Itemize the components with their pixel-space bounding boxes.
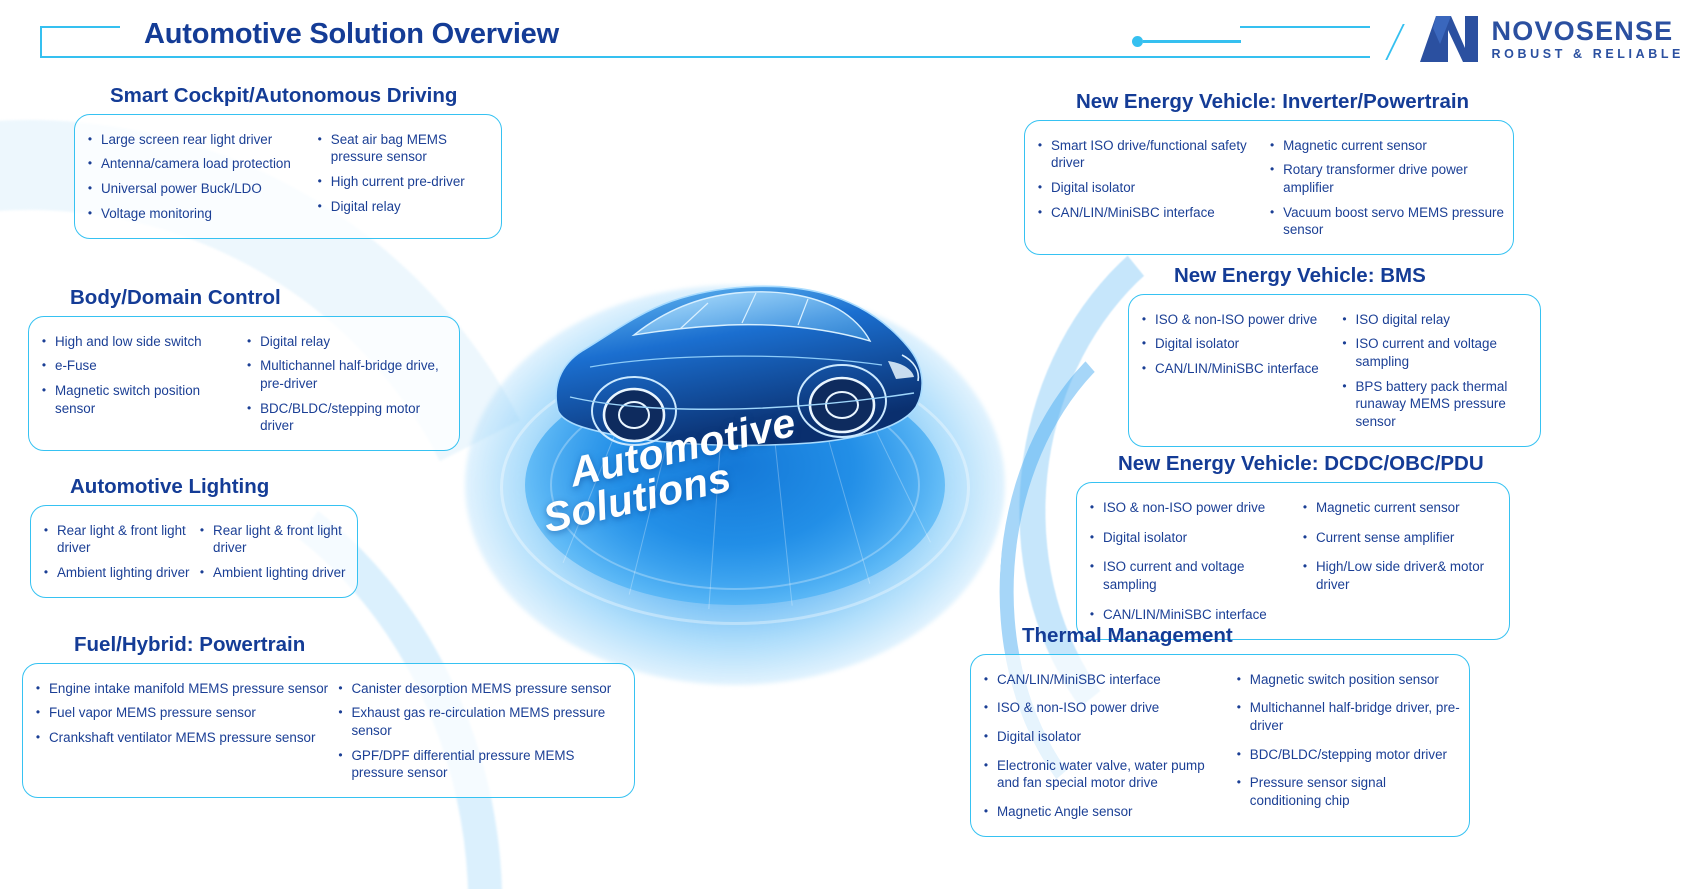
panel-column-right: •Digital relay •Multichannel half-bridge…: [238, 329, 451, 438]
list-item-label: ISO & non-ISO power drive: [1155, 311, 1333, 329]
list-item[interactable]: •High and low side switch: [33, 329, 238, 354]
bullet-icon: •: [1294, 529, 1316, 545]
list-item-label: CAN/LIN/MiniSBC interface: [1051, 204, 1261, 222]
list-item-label: Magnetic switch position sensor: [1250, 671, 1461, 689]
list-item-label: Magnetic current sensor: [1283, 137, 1505, 155]
bullet-icon: •: [1294, 499, 1316, 515]
bullet-icon: •: [27, 729, 49, 745]
list-item-label: CAN/LIN/MiniSBC interface: [997, 671, 1228, 689]
bullet-icon: •: [975, 728, 997, 744]
list-item[interactable]: •Smart ISO drive/functional safety drive…: [1029, 133, 1261, 175]
bullet-icon: •: [1228, 746, 1250, 762]
list-item-label: Multichannel half-bridge drive, pre-driv…: [260, 357, 451, 392]
bullet-icon: •: [79, 155, 101, 171]
list-item[interactable]: •Ambient lighting driver: [35, 560, 191, 585]
list-item-label: Digital relay: [260, 333, 451, 351]
list-item[interactable]: •Digital relay: [309, 194, 493, 219]
list-item[interactable]: •Digital isolator: [975, 722, 1228, 751]
panel-column-left: •Smart ISO drive/functional safety drive…: [1029, 133, 1261, 242]
list-item[interactable]: •BDC/BLDC/stepping motor driver: [238, 396, 451, 438]
list-item[interactable]: •High/Low side driver& motor driver: [1294, 552, 1501, 599]
list-item-label: Pressure sensor signal conditioning chip: [1250, 774, 1461, 809]
panel-column-left: •Rear light & front light driver •Ambien…: [35, 518, 191, 585]
bullet-icon: •: [329, 704, 351, 720]
section-fuel-hybrid-powertrain: Fuel/Hybrid: Powertrain •Engine intake m…: [22, 633, 635, 798]
bullet-icon: •: [1333, 378, 1355, 394]
list-item[interactable]: •Digital isolator: [1029, 175, 1261, 200]
panel-fuel-hybrid-powertrain: •Engine intake manifold MEMS pressure se…: [22, 663, 635, 798]
list-item[interactable]: •Voltage monitoring: [79, 201, 309, 226]
list-item[interactable]: •Canister desorption MEMS pressure senso…: [329, 676, 626, 701]
list-item-label: Ambient lighting driver: [213, 564, 349, 582]
section-title-nev-inverter-powertrain: New Energy Vehicle: Inverter/Powertrain: [1024, 90, 1514, 114]
list-item-label: Seat air bag MEMS pressure sensor: [331, 131, 493, 166]
bullet-icon: •: [238, 357, 260, 373]
bullet-icon: •: [35, 522, 57, 538]
bullet-icon: •: [1029, 204, 1051, 220]
bullet-icon: •: [27, 680, 49, 696]
panel-nev-inverter-powertrain: •Smart ISO drive/functional safety drive…: [1024, 120, 1514, 255]
section-title-smart-cockpit: Smart Cockpit/Autonomous Driving: [74, 84, 502, 108]
list-item[interactable]: •ISO & non-ISO power drive: [1081, 493, 1294, 523]
list-item[interactable]: •Electronic water valve, water pump and …: [975, 751, 1228, 797]
brand-logo: NOVOSENSE ROBUST & RELIABLE: [1418, 14, 1684, 64]
bullet-icon: •: [79, 180, 101, 196]
bullet-icon: •: [238, 400, 260, 416]
list-item[interactable]: •Digital isolator: [1133, 332, 1333, 357]
panel-column-left: •ISO & non-ISO power drive •Digital isol…: [1133, 307, 1333, 434]
title-accent-line: [1143, 40, 1241, 43]
list-item[interactable]: •ISO current and voltage sampling: [1333, 332, 1532, 374]
list-item-label: BDC/BLDC/stepping motor driver: [1250, 746, 1461, 764]
logo-tagline: ROBUST & RELIABLE: [1492, 48, 1684, 61]
list-item-label: Rotary transformer drive power amplifier: [1283, 161, 1505, 196]
list-item-label: Magnetic switch position sensor: [55, 382, 238, 417]
bullet-icon: •: [1228, 671, 1250, 687]
section-title-nev-dcdc-obc-pdu: New Energy Vehicle: DCDC/OBC/PDU: [1076, 452, 1510, 476]
list-item-label: CAN/LIN/MiniSBC interface: [1155, 360, 1333, 378]
list-item-label: Electronic water valve, water pump and f…: [997, 757, 1228, 792]
list-item[interactable]: •CAN/LIN/MiniSBC interface: [975, 665, 1228, 694]
list-item[interactable]: •Ambient lighting driver: [191, 560, 349, 585]
bullet-icon: •: [975, 671, 997, 687]
list-item-label: ISO digital relay: [1355, 311, 1532, 329]
logo-name: NOVOSENSE: [1492, 18, 1684, 45]
list-item[interactable]: •Large screen rear light driver: [79, 127, 309, 152]
bullet-icon: •: [27, 704, 49, 720]
panel-column-left: •Engine intake manifold MEMS pressure se…: [27, 676, 329, 785]
list-item[interactable]: •e-Fuse: [33, 354, 238, 379]
list-item[interactable]: •BDC/BLDC/stepping motor driver: [1228, 740, 1461, 769]
panel-column-left: •ISO & non-ISO power drive •Digital isol…: [1081, 493, 1294, 629]
bullet-icon: •: [1133, 335, 1155, 351]
list-item-label: Digital isolator: [1051, 179, 1261, 197]
panel-column-left: •High and low side switch •e-Fuse •Magne…: [33, 329, 238, 438]
list-item[interactable]: •Crankshaft ventilator MEMS pressure sen…: [27, 725, 329, 750]
list-item-label: Exhaust gas re-circulation MEMS pressure…: [351, 704, 626, 739]
list-item-label: Fuel vapor MEMS pressure sensor: [49, 704, 329, 722]
bullet-icon: •: [1228, 774, 1250, 790]
panel-column-right: •Magnetic current sensor •Current sense …: [1294, 493, 1501, 629]
bullet-icon: •: [1029, 179, 1051, 195]
bullet-icon: •: [329, 680, 351, 696]
list-item[interactable]: •Multichannel half-bridge driver, pre-dr…: [1228, 694, 1461, 740]
bullet-icon: •: [191, 522, 213, 538]
list-item[interactable]: •Current sense amplifier: [1294, 523, 1501, 553]
list-item-label: GPF/DPF differential pressure MEMS press…: [351, 747, 626, 782]
list-item[interactable]: •High current pre-driver: [309, 169, 493, 194]
bullet-icon: •: [79, 131, 101, 147]
list-item-label: Current sense amplifier: [1316, 529, 1501, 547]
novosense-mark-icon: [1418, 14, 1480, 64]
section-thermal-management: Thermal Management •CAN/LIN/MiniSBC inte…: [970, 624, 1470, 837]
list-item-label: High/Low side driver& motor driver: [1316, 558, 1501, 593]
panel-column-right: •Rear light & front light driver •Ambien…: [191, 518, 349, 585]
bullet-icon: •: [238, 333, 260, 349]
bullet-icon: •: [1081, 606, 1103, 622]
panel-column-right: •Magnetic switch position sensor •Multic…: [1228, 665, 1461, 826]
bullet-icon: •: [1133, 311, 1155, 327]
list-item[interactable]: •Magnetic switch position sensor: [33, 378, 238, 420]
list-item-label: Digital isolator: [1103, 529, 1294, 547]
bullet-icon: •: [309, 131, 331, 147]
list-item-label: BPS battery pack thermal runaway MEMS pr…: [1355, 378, 1532, 431]
list-item-label: High current pre-driver: [331, 173, 493, 191]
list-item[interactable]: •Magnetic current sensor: [1294, 493, 1501, 523]
section-smart-cockpit: Smart Cockpit/Autonomous Driving •Large …: [74, 84, 502, 239]
list-item[interactable]: •Magnetic current sensor: [1261, 133, 1505, 158]
list-item[interactable]: •Vacuum boost servo MEMS pressure sensor: [1261, 200, 1505, 242]
panel-column-left: •Large screen rear light driver •Antenna…: [79, 127, 309, 226]
list-item-label: ISO & non-ISO power drive: [1103, 499, 1294, 517]
list-item[interactable]: •ISO current and voltage sampling: [1081, 552, 1294, 599]
list-item-label: Rear light & front light driver: [213, 522, 349, 557]
section-title-automotive-lighting: Automotive Lighting: [30, 475, 358, 499]
list-item[interactable]: •ISO & non-ISO power drive: [1133, 307, 1333, 332]
list-item[interactable]: •Rear light & front light driver: [191, 518, 349, 560]
list-item[interactable]: •CAN/LIN/MiniSBC interface: [1029, 200, 1261, 225]
list-item-label: Universal power Buck/LDO: [101, 180, 309, 198]
panel-thermal-management: •CAN/LIN/MiniSBC interface •ISO & non-IS…: [970, 654, 1470, 837]
bullet-icon: •: [975, 757, 997, 773]
list-item-label: Canister desorption MEMS pressure sensor: [351, 680, 626, 698]
bullet-icon: •: [1333, 335, 1355, 351]
section-nev-dcdc-obc-pdu: New Energy Vehicle: DCDC/OBC/PDU •ISO & …: [1076, 452, 1510, 640]
list-item-label: Digital isolator: [1155, 335, 1333, 353]
bullet-icon: •: [1294, 558, 1316, 574]
bullet-icon: •: [79, 205, 101, 221]
list-item-label: Rear light & front light driver: [57, 522, 191, 557]
list-item-label: Smart ISO drive/functional safety driver: [1051, 137, 1261, 172]
slide-header: Automotive Solution Overview NOVOSENSE R…: [0, 0, 1702, 80]
panel-column-left: •CAN/LIN/MiniSBC interface •ISO & non-IS…: [975, 665, 1228, 826]
list-item-label: Digital isolator: [997, 728, 1228, 746]
bullet-icon: •: [309, 198, 331, 214]
list-item[interactable]: •ISO digital relay: [1333, 307, 1532, 332]
section-automotive-lighting: Automotive Lighting •Rear light & front …: [30, 475, 358, 598]
list-item[interactable]: •Magnetic Angle sensor: [975, 797, 1228, 826]
bullet-icon: •: [33, 357, 55, 373]
list-item[interactable]: •CAN/LIN/MiniSBC interface: [1133, 356, 1333, 381]
bullet-icon: •: [309, 173, 331, 189]
list-item[interactable]: •Exhaust gas re-circulation MEMS pressur…: [329, 701, 626, 743]
bullet-icon: •: [975, 803, 997, 819]
list-item[interactable]: •Rotary transformer drive power amplifie…: [1261, 158, 1505, 200]
bullet-icon: •: [1029, 137, 1051, 153]
list-item[interactable]: •Magnetic switch position sensor: [1228, 665, 1461, 694]
bullet-icon: •: [1133, 360, 1155, 376]
list-item-label: BDC/BLDC/stepping motor driver: [260, 400, 451, 435]
list-item-label: Engine intake manifold MEMS pressure sen…: [49, 680, 329, 698]
title-accent-dot: [1132, 36, 1143, 47]
list-item-label: Vacuum boost servo MEMS pressure sensor: [1283, 204, 1505, 239]
panel-automotive-lighting: •Rear light & front light driver •Ambien…: [30, 505, 358, 598]
panel-nev-bms: •ISO & non-ISO power drive •Digital isol…: [1128, 294, 1541, 447]
bullet-icon: •: [1333, 311, 1355, 327]
car-wireframe-icon: [530, 215, 950, 475]
panel-smart-cockpit: •Large screen rear light driver •Antenna…: [74, 114, 502, 239]
logo-wordmark: NOVOSENSE ROBUST & RELIABLE: [1492, 18, 1684, 61]
list-item[interactable]: •Seat air bag MEMS pressure sensor: [309, 127, 493, 169]
section-title-fuel-hybrid-powertrain: Fuel/Hybrid: Powertrain: [22, 633, 635, 657]
section-title-thermal-management: Thermal Management: [970, 624, 1470, 648]
panel-column-right: •Seat air bag MEMS pressure sensor •High…: [309, 127, 493, 226]
list-item-label: ISO current and voltage sampling: [1103, 558, 1294, 593]
list-item-label: Ambient lighting driver: [57, 564, 191, 582]
list-item[interactable]: •Multichannel half-bridge drive, pre-dri…: [238, 354, 451, 396]
list-item[interactable]: •Fuel vapor MEMS pressure sensor: [27, 701, 329, 726]
bullet-icon: •: [975, 699, 997, 715]
center-car-illustration: Automotive Solutions: [455, 165, 1015, 695]
list-item[interactable]: •Digital relay: [238, 329, 451, 354]
page-title: Automotive Solution Overview: [134, 18, 569, 51]
panel-column-right: •Canister desorption MEMS pressure senso…: [329, 676, 626, 785]
list-item-label: Antenna/camera load protection: [101, 155, 309, 173]
bullet-icon: •: [33, 382, 55, 398]
list-item-label: Magnetic current sensor: [1316, 499, 1501, 517]
list-item-label: Voltage monitoring: [101, 205, 309, 223]
bullet-icon: •: [35, 564, 57, 580]
list-item[interactable]: •Antenna/camera load protection: [79, 152, 309, 177]
bullet-icon: •: [1081, 529, 1103, 545]
list-item[interactable]: •BPS battery pack thermal runaway MEMS p…: [1333, 374, 1532, 434]
panel-nev-dcdc-obc-pdu: •ISO & non-ISO power drive •Digital isol…: [1076, 482, 1510, 640]
bullet-icon: •: [1261, 204, 1283, 220]
bullet-icon: •: [1228, 699, 1250, 715]
section-title-body-domain-control: Body/Domain Control: [28, 286, 460, 310]
list-item[interactable]: •Digital isolator: [1081, 523, 1294, 553]
section-nev-inverter-powertrain: New Energy Vehicle: Inverter/Powertrain …: [1024, 90, 1514, 255]
panel-column-right: •Magnetic current sensor •Rotary transfo…: [1261, 133, 1505, 242]
bullet-icon: •: [1261, 137, 1283, 153]
panel-column-right: •ISO digital relay •ISO current and volt…: [1333, 307, 1532, 434]
list-item-label: High and low side switch: [55, 333, 238, 351]
panel-body-domain-control: •High and low side switch •e-Fuse •Magne…: [28, 316, 460, 451]
section-title-nev-bms: New Energy Vehicle: BMS: [1128, 264, 1541, 288]
section-nev-bms: New Energy Vehicle: BMS •ISO & non-ISO p…: [1128, 264, 1541, 447]
list-item-label: Large screen rear light driver: [101, 131, 309, 149]
list-item[interactable]: •GPF/DPF differential pressure MEMS pres…: [329, 743, 626, 785]
slide-canvas: Automotive Solution Overview NOVOSENSE R…: [0, 0, 1702, 889]
list-item-label: CAN/LIN/MiniSBC interface: [1103, 606, 1294, 624]
list-item-label: Crankshaft ventilator MEMS pressure sens…: [49, 729, 329, 747]
bullet-icon: •: [329, 747, 351, 763]
bullet-icon: •: [1081, 499, 1103, 515]
list-item-label: ISO & non-ISO power drive: [997, 699, 1228, 717]
list-item-label: Multichannel half-bridge driver, pre-dri…: [1250, 699, 1461, 734]
list-item-label: Digital relay: [331, 198, 493, 216]
list-item[interactable]: •Engine intake manifold MEMS pressure se…: [27, 676, 329, 701]
list-item-label: e-Fuse: [55, 357, 238, 375]
list-item[interactable]: •Pressure sensor signal conditioning chi…: [1228, 769, 1461, 815]
bullet-icon: •: [1081, 558, 1103, 574]
bullet-icon: •: [191, 564, 213, 580]
list-item-label: ISO current and voltage sampling: [1355, 335, 1532, 370]
bullet-icon: •: [1261, 161, 1283, 177]
list-item[interactable]: •Rear light & front light driver: [35, 518, 191, 560]
section-body-domain-control: Body/Domain Control •High and low side s…: [28, 286, 460, 451]
list-item[interactable]: •Universal power Buck/LDO: [79, 176, 309, 201]
list-item[interactable]: •ISO & non-ISO power drive: [975, 694, 1228, 723]
list-item-label: Magnetic Angle sensor: [997, 803, 1228, 821]
bullet-icon: •: [33, 333, 55, 349]
